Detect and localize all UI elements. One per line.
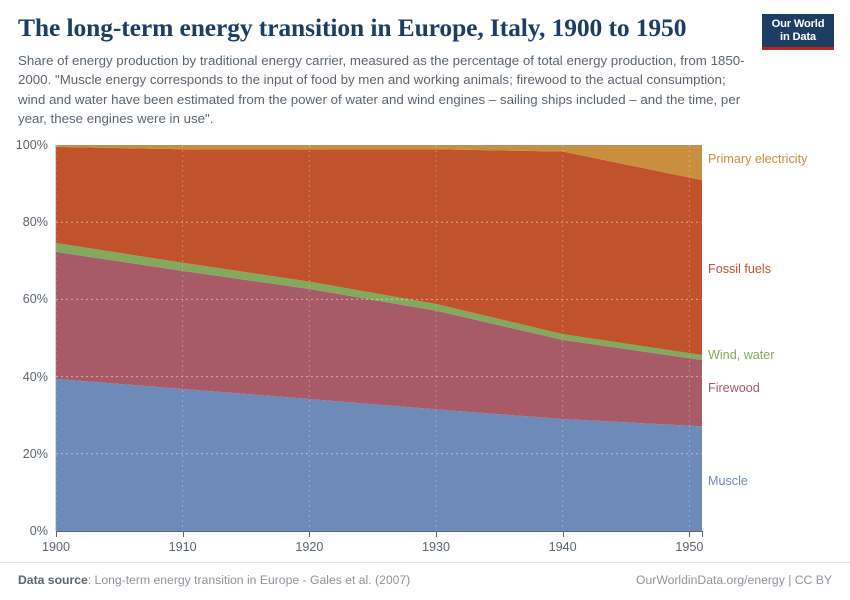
x-tick-mark-end [702,532,703,537]
stacked-area-plot[interactable] [56,145,702,531]
y-tick-label: 100% [16,138,48,152]
y-tick-label: 20% [23,447,48,461]
data-source: Data source: Long-term energy transition… [18,573,410,587]
x-tick-label: 1910 [169,540,197,554]
chart-header: The long-term energy transition in Europ… [0,0,850,128]
y-tick-label: 60% [23,292,48,306]
series-label-wind-water[interactable]: Wind, water [708,348,775,362]
data-source-text: : Long-term energy transition in Europe … [88,573,410,587]
logo-line-1: Our World [762,18,834,31]
series-label-firewood[interactable]: Firewood [708,381,760,395]
x-tick-mark [689,532,690,537]
x-tick-mark [56,532,57,537]
our-world-in-data-logo[interactable]: Our World in Data [762,14,834,50]
chart-area: 0%20%40%60%80%100% 190019101920193019401… [0,136,850,546]
x-tick-mark [436,532,437,537]
series-label-primary-electricity[interactable]: Primary electricity [708,152,807,166]
x-tick-label: 1940 [549,540,577,554]
chart-footer: Data source: Long-term energy transition… [0,562,850,600]
x-tick-label: 1900 [42,540,70,554]
chart-page: The long-term energy transition in Europ… [0,0,850,600]
x-axis-line [56,531,703,532]
x-tick-label: 1930 [422,540,450,554]
x-tick-label: 1950 [675,540,703,554]
x-tick-mark [563,532,564,537]
series-label-fossil-fuels[interactable]: Fossil fuels [708,262,771,276]
attribution-link[interactable]: OurWorldinData.org/energy | CC BY [636,573,832,587]
plot-svg [56,145,702,531]
y-tick-label: 80% [23,215,48,229]
chart-subtitle: Share of energy production by traditiona… [18,51,753,128]
y-tick-label: 0% [30,524,48,538]
y-tick-label: 40% [23,370,48,384]
x-tick-mark [309,532,310,537]
data-source-label: Data source [18,573,88,587]
x-tick-mark [183,532,184,537]
page-title: The long-term energy transition in Europ… [18,14,758,42]
x-tick-label: 1920 [295,540,323,554]
series-label-muscle[interactable]: Muscle [708,474,748,488]
logo-line-2: in Data [762,31,834,44]
